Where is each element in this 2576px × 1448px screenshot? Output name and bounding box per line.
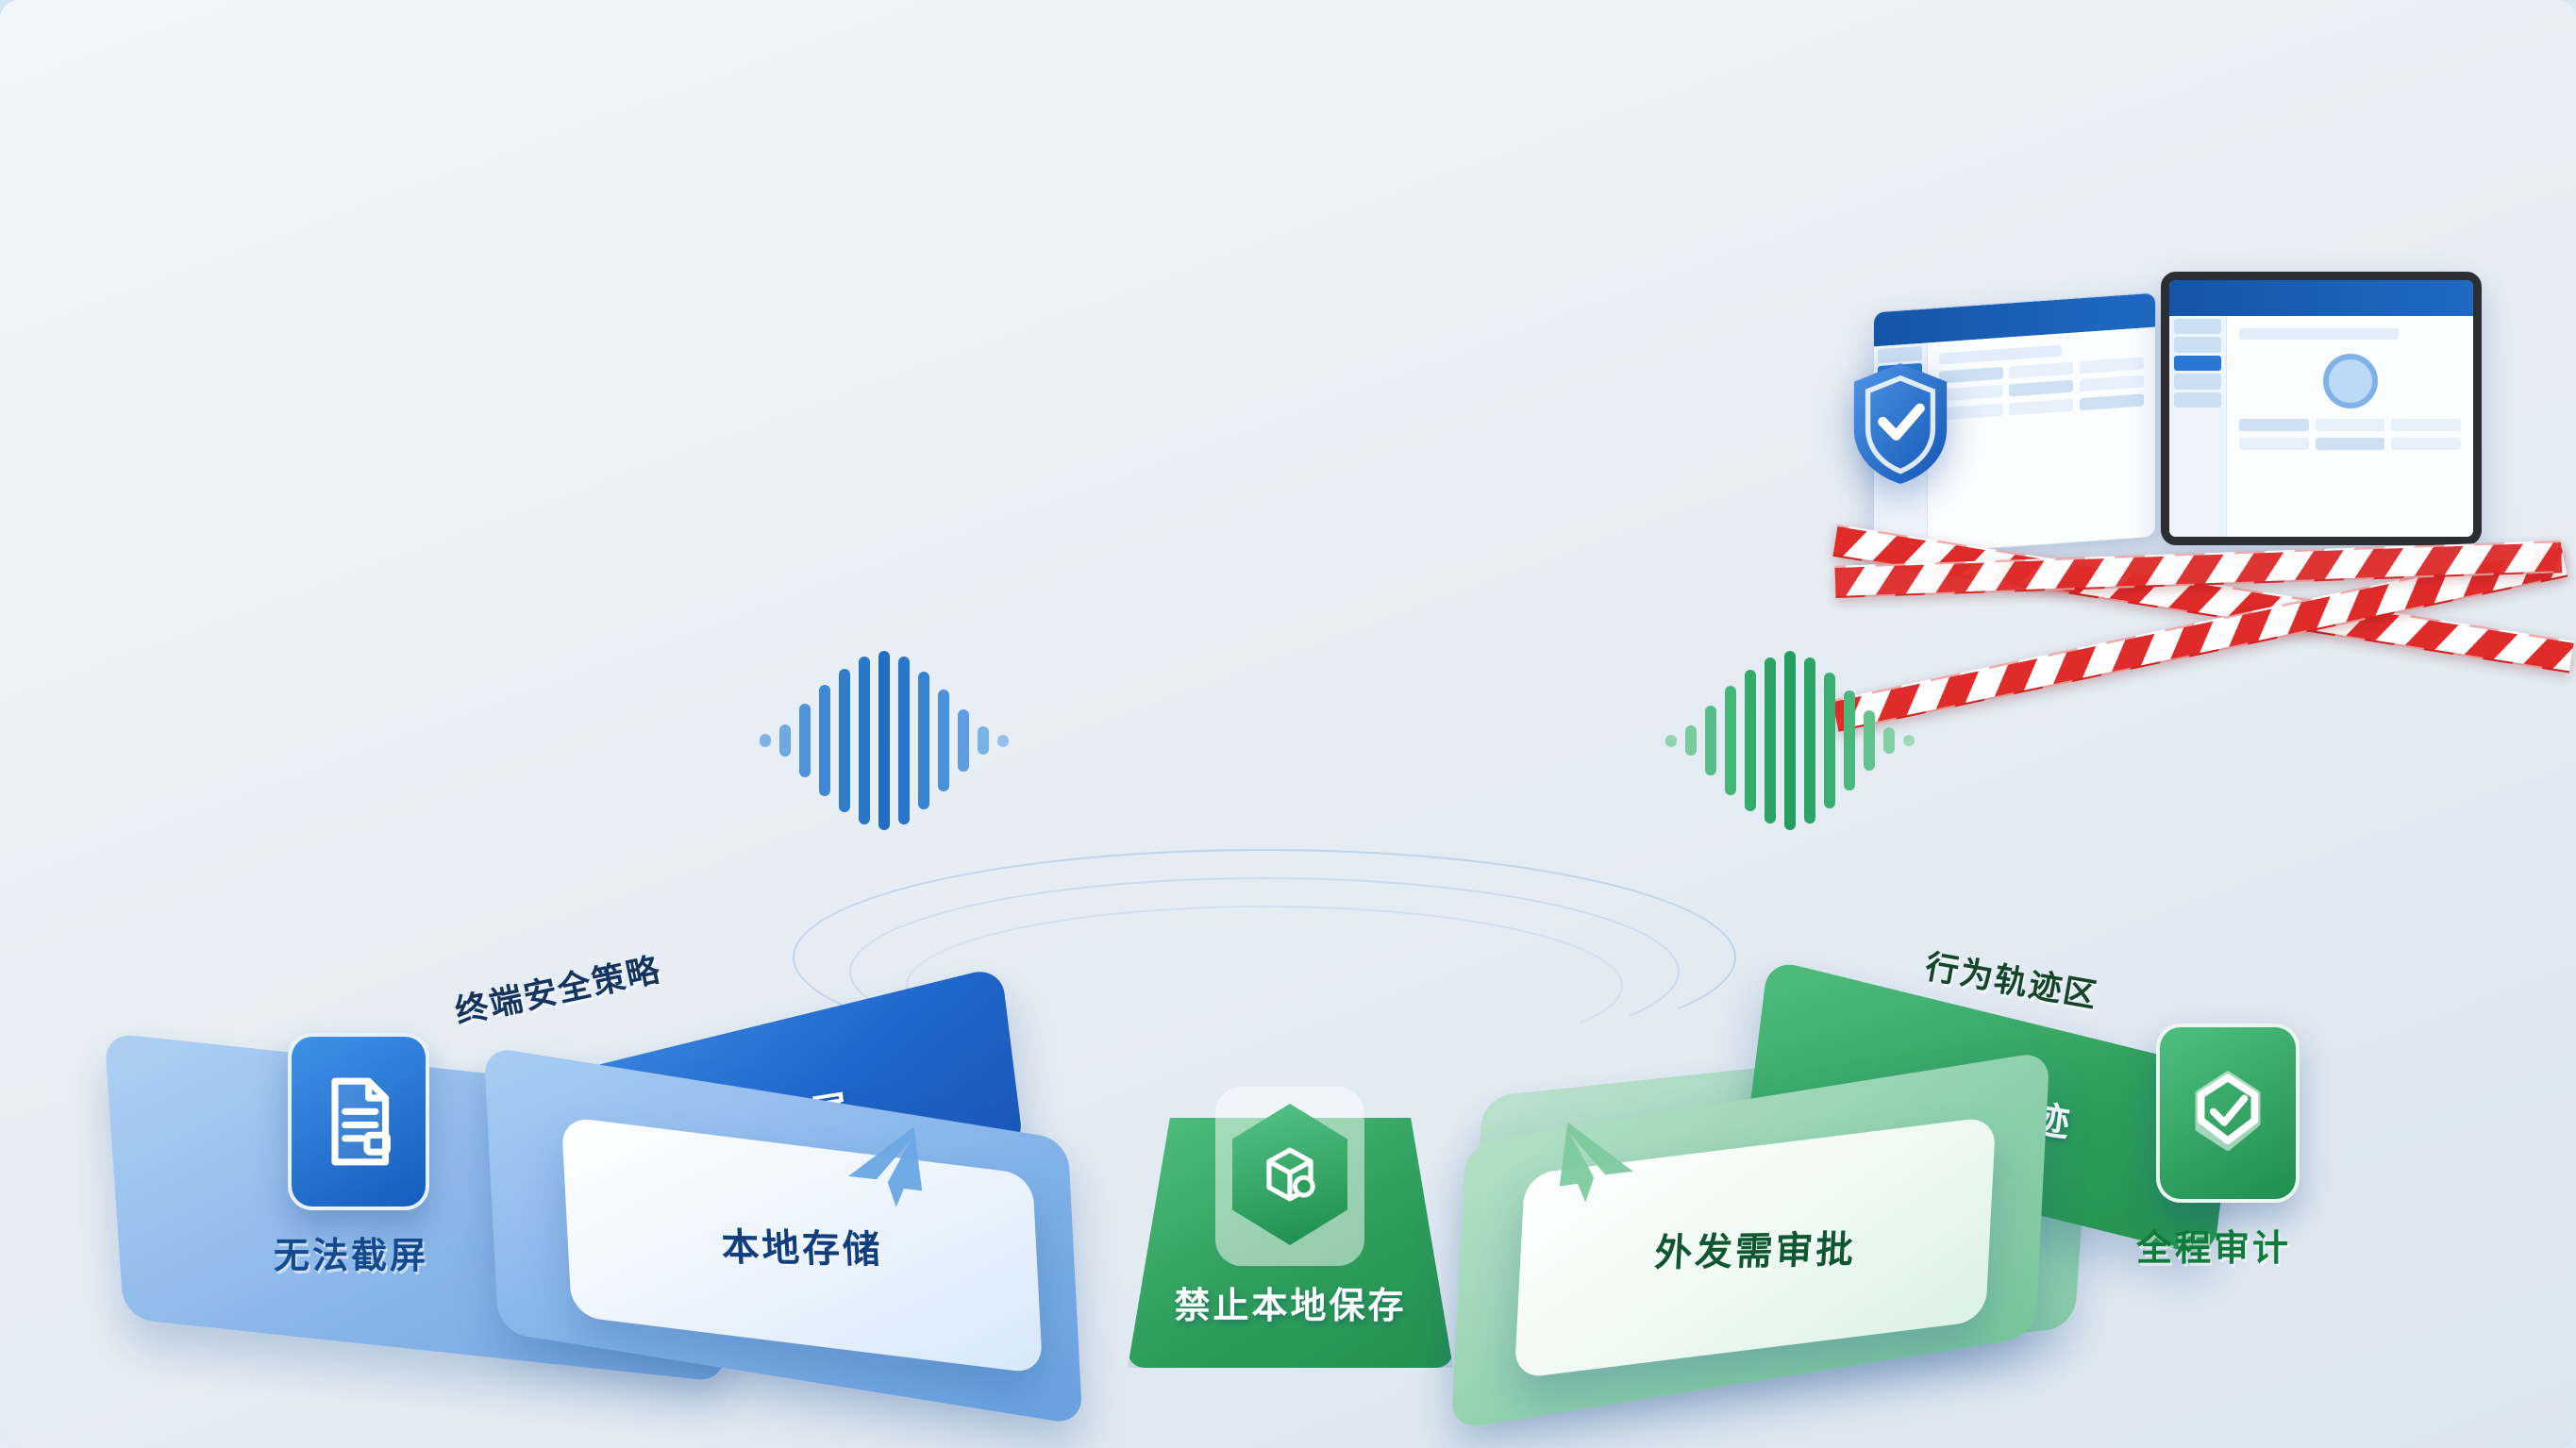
card-label: 禁止本地保存 — [1174, 1276, 1406, 1328]
tile-icon-no-screenshot — [288, 1033, 429, 1210]
tile-caption-full-audit: 全程审计 — [2136, 1219, 2291, 1271]
tile-caption-no-screenshot: 无法截屏 — [274, 1226, 428, 1278]
waveform-connector-green — [1665, 651, 1915, 830]
waveform-connector-blue — [760, 651, 1009, 830]
restricted-dashboard-screen-right — [2161, 272, 2482, 545]
tile-icon-full-audit — [2156, 1024, 2300, 1203]
shield-check-icon — [1845, 358, 1956, 489]
ripple-arc — [906, 906, 1623, 1066]
card-label: 外发需审批 — [1653, 1218, 1858, 1276]
